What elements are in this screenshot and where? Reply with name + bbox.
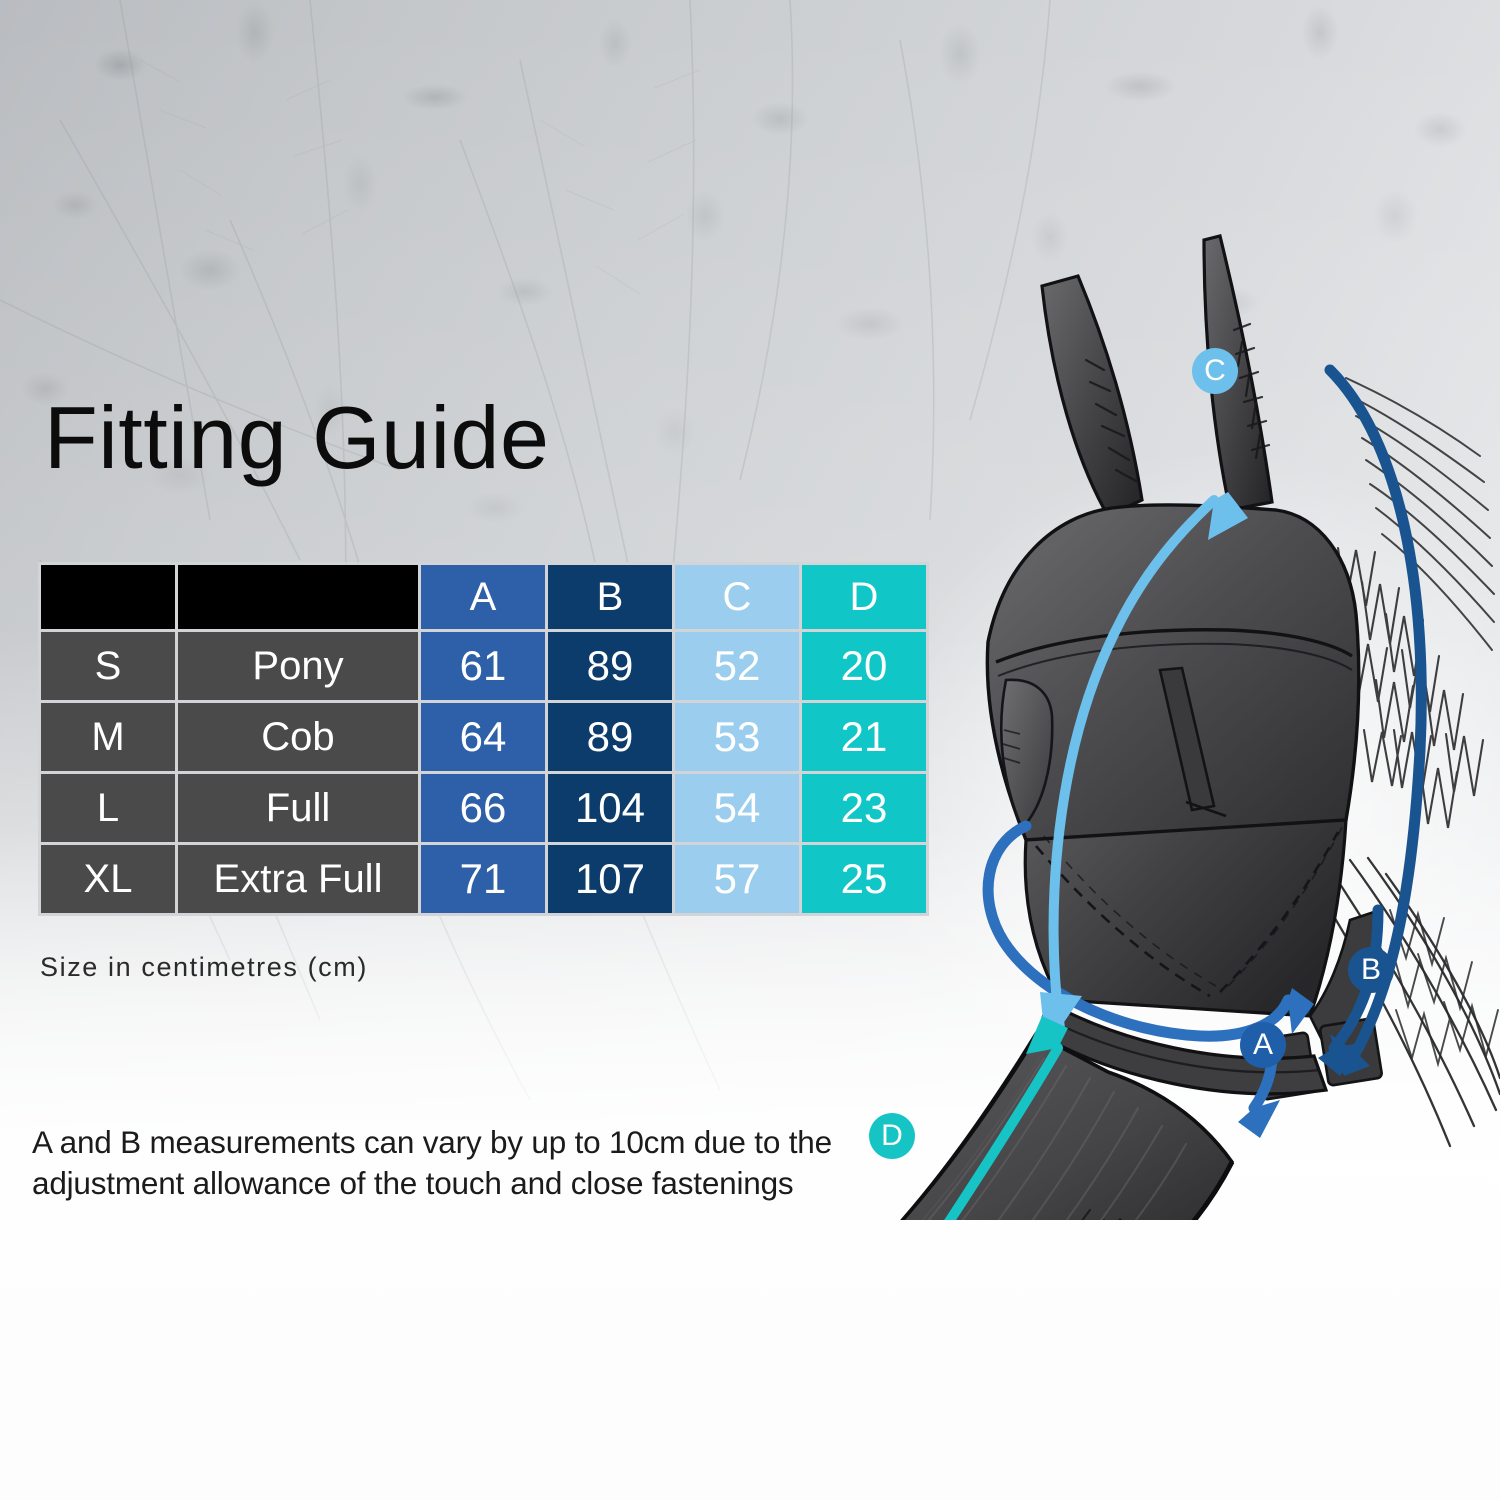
row-name-xl: Extra Full xyxy=(178,845,418,913)
row-name-s: Pony xyxy=(178,632,418,700)
row-m-b: 89 xyxy=(548,703,672,771)
row-size-l: L xyxy=(41,774,175,842)
row-l-b: 104 xyxy=(548,774,672,842)
fly-mask-face-panel xyxy=(1025,820,1346,1016)
row-l-c: 54 xyxy=(675,774,799,842)
row-size-xl: XL xyxy=(41,845,175,913)
row-xl-c: 57 xyxy=(675,845,799,913)
row-s-a: 61 xyxy=(421,632,545,700)
measurement-marker-c: C xyxy=(1192,348,1238,394)
measurement-marker-a: A xyxy=(1240,1022,1286,1068)
measurement-disclaimer: A and B measurements can vary by up to 1… xyxy=(32,1122,832,1204)
row-name-l: Full xyxy=(178,774,418,842)
measurement-marker-d: D xyxy=(869,1113,915,1159)
horse-ear-left xyxy=(1042,276,1142,516)
horse-fly-mask-illustration xyxy=(790,210,1500,1220)
row-name-m: Cob xyxy=(178,703,418,771)
page-title: Fitting Guide xyxy=(44,394,549,482)
measurement-marker-b: B xyxy=(1348,947,1394,993)
row-m-a: 64 xyxy=(421,703,545,771)
row-size-m: M xyxy=(41,703,175,771)
table-header-b: B xyxy=(548,565,672,629)
table-header-c: C xyxy=(675,565,799,629)
row-xl-a: 71 xyxy=(421,845,545,913)
row-s-c: 52 xyxy=(675,632,799,700)
table-header-blank-size xyxy=(41,565,175,629)
table-units-caption: Size in centimetres (cm) xyxy=(40,952,368,983)
row-s-b: 89 xyxy=(548,632,672,700)
row-xl-b: 107 xyxy=(548,845,672,913)
table-header-blank-name xyxy=(178,565,418,629)
table-header-a: A xyxy=(421,565,545,629)
row-size-s: S xyxy=(41,632,175,700)
row-l-a: 66 xyxy=(421,774,545,842)
row-m-c: 53 xyxy=(675,703,799,771)
fitting-guide-page: Fitting Guide A B C D S Pony 61 89 52 20… xyxy=(0,0,1500,1500)
